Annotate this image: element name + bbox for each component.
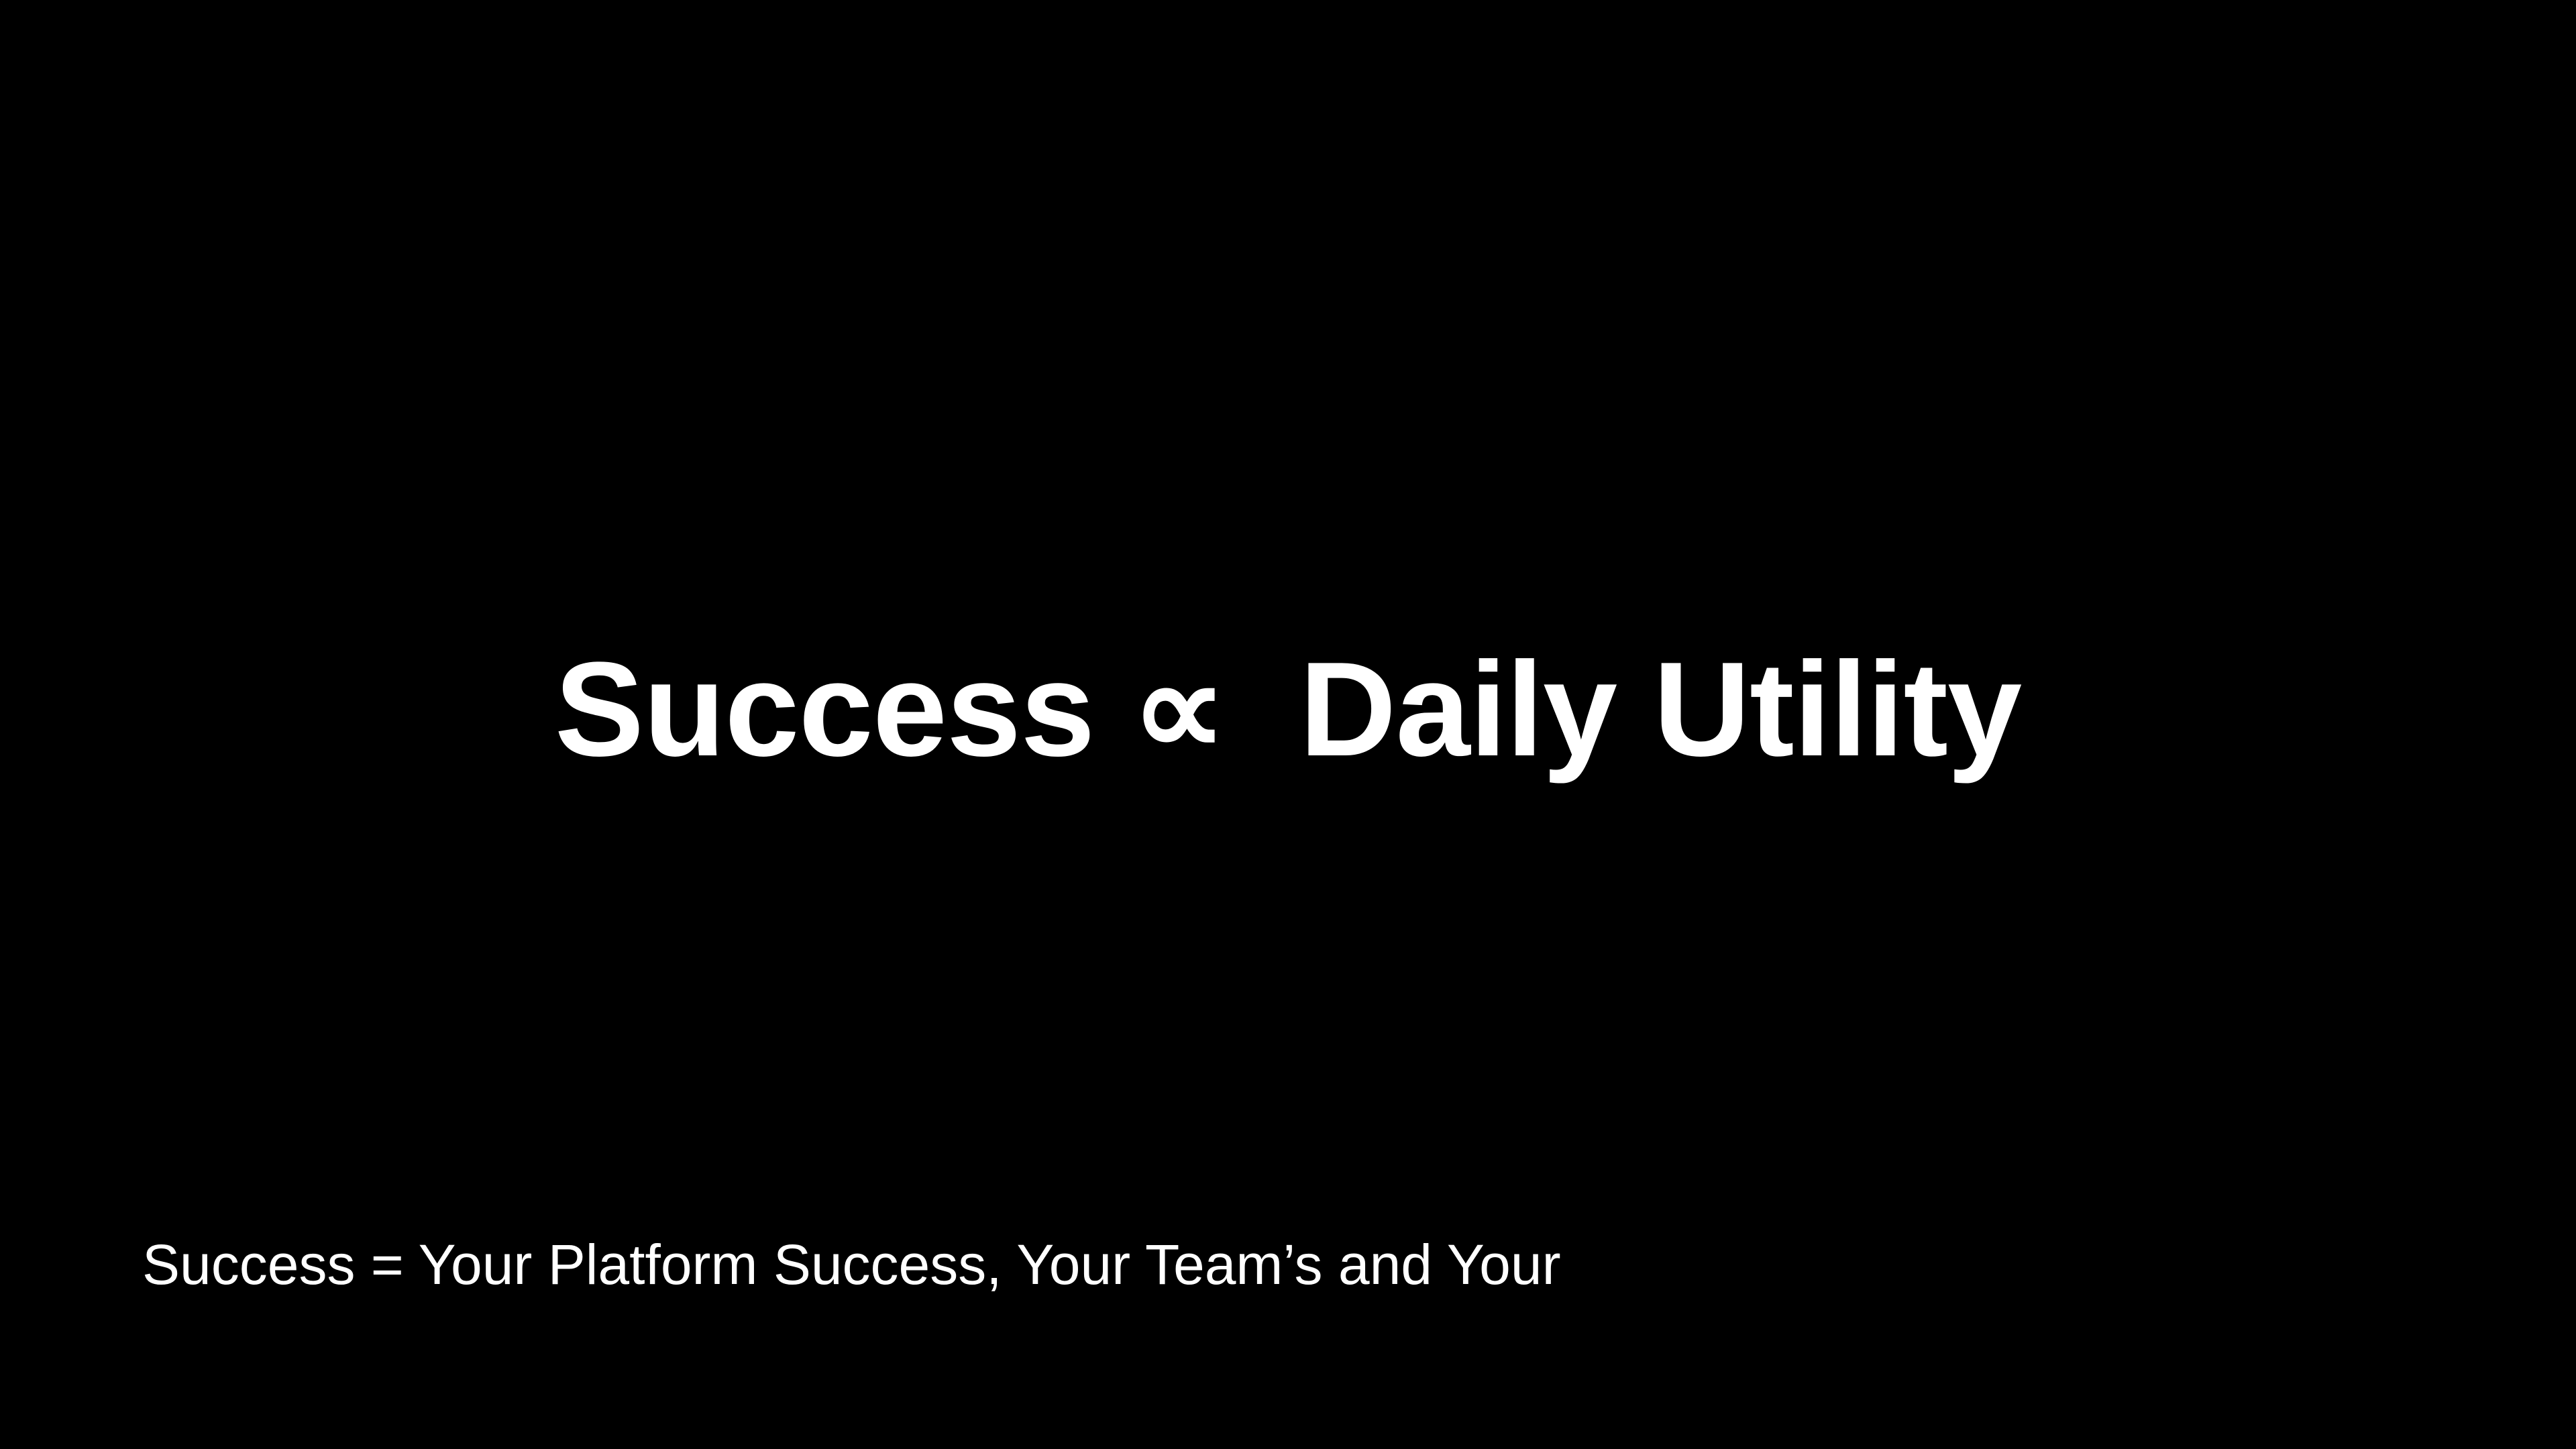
subtitle-text: Success = Your Platform Success, Your Te… bbox=[142, 1233, 2423, 1296]
subtitle-container: Success = Your Platform Success, Your Te… bbox=[142, 1233, 2423, 1296]
headline-container: Success ∝ Daily Utility bbox=[0, 0, 2576, 792]
slide-canvas: Success ∝ Daily Utility Success = Your P… bbox=[0, 0, 2576, 1449]
proportional-to-symbol: ∝ bbox=[1094, 635, 1299, 784]
page-title: Success ∝ Daily Utility bbox=[555, 643, 2021, 777]
headline-right-term: Daily Utility bbox=[1299, 635, 2021, 784]
headline-left-term: Success bbox=[555, 635, 1095, 784]
